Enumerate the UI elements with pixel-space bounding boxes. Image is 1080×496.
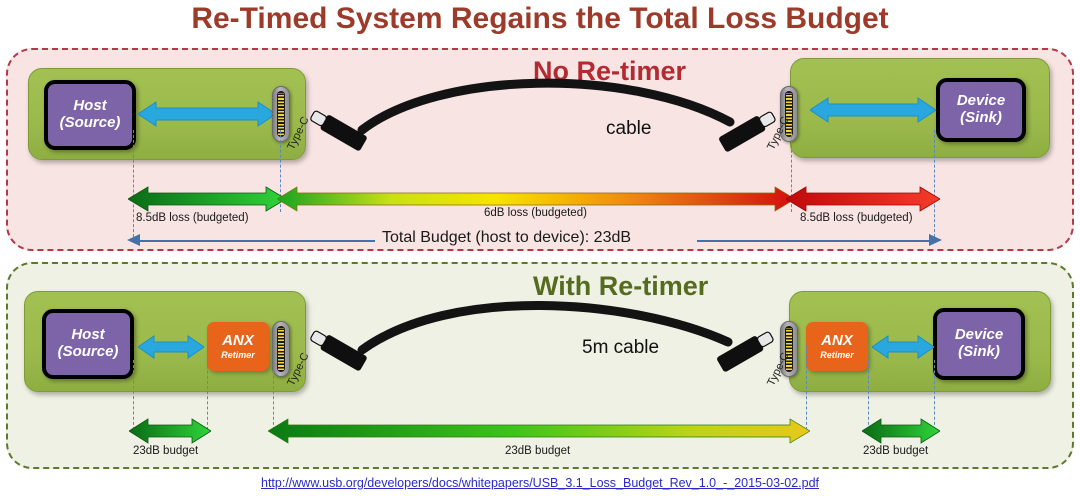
total-budget-line-right [697, 240, 935, 242]
budget-label-left-bottom: 23dB budget [133, 445, 198, 457]
total-budget-label: Total Budget (host to device): 23dB [382, 229, 631, 247]
device-chip-bottom: Device (Sink) [933, 308, 1025, 380]
blue-double-arrow-icon [872, 334, 934, 360]
type-c-pins [278, 328, 284, 370]
type-c-pins [278, 93, 284, 135]
host-chip-top-line1: Host [73, 98, 106, 115]
type-c-slot [277, 91, 285, 137]
budget-arrow-right-top [786, 186, 940, 212]
budget-arrow-right-bottom [862, 418, 940, 444]
retimer-right-line1: ANX [821, 333, 853, 348]
budget-label-left-top: 8.5dB loss (budgeted) [136, 212, 249, 224]
budget-arrow-middle-bottom [268, 418, 810, 444]
budget-arrow-left-bottom [129, 418, 211, 444]
page-title: Re-Timed System Regains the Total Loss B… [0, 2, 1080, 36]
host-chip-top: Host (Source) [44, 80, 136, 150]
retimer-left-line2: Retimer [221, 350, 255, 360]
host-chip-bottom-line1: Host [71, 327, 104, 344]
device-chip-bottom-line2: (Sink) [958, 344, 1000, 361]
blue-double-arrow-icon [138, 334, 204, 360]
total-budget-line-left [135, 240, 375, 242]
device-chip-bottom-line1: Device [955, 327, 1003, 344]
usb-cable-bottom [300, 290, 790, 380]
blue-double-arrow-icon [138, 100, 276, 128]
device-link-arrow-bottom [872, 334, 934, 365]
budget-label-middle-top: 6dB loss (budgeted) [484, 207, 587, 219]
retimer-right-line2: Retimer [820, 350, 854, 360]
device-chip-top-line1: Device [957, 93, 1005, 110]
cable-label-bottom: 5m cable [582, 337, 659, 359]
budget-arrow-left-top [128, 186, 286, 212]
budget-label-middle-bottom: 23dB budget [505, 445, 570, 457]
type-c-slot [277, 326, 285, 372]
cable-label-top: cable [606, 118, 651, 140]
host-link-arrow-bottom [138, 334, 204, 365]
device-chip-top-line2: (Sink) [960, 110, 1002, 127]
blue-double-arrow-icon [810, 96, 936, 124]
host-chip-bottom-line2: (Source) [58, 344, 119, 361]
device-link-arrow-top [810, 96, 936, 129]
source-link[interactable]: http://www.usb.org/developers/docs/white… [0, 476, 1080, 490]
usb-cable-top [300, 78, 790, 158]
device-chip-top: Device (Sink) [936, 78, 1026, 142]
budget-label-right-top: 8.5dB loss (budgeted) [800, 212, 913, 224]
host-chip-top-line2: (Source) [60, 115, 121, 132]
retimer-left-line1: ANX [222, 333, 254, 348]
budget-label-right-bottom: 23dB budget [863, 445, 928, 457]
retimer-chip-left: ANX Retimer [207, 322, 269, 371]
total-budget-arrowhead-left [127, 233, 141, 247]
total-budget-arrowhead-right [928, 233, 942, 247]
host-link-arrow-top [138, 100, 276, 133]
host-chip-bottom: Host (Source) [42, 309, 134, 379]
retimer-chip-right: ANX Retimer [806, 322, 868, 371]
